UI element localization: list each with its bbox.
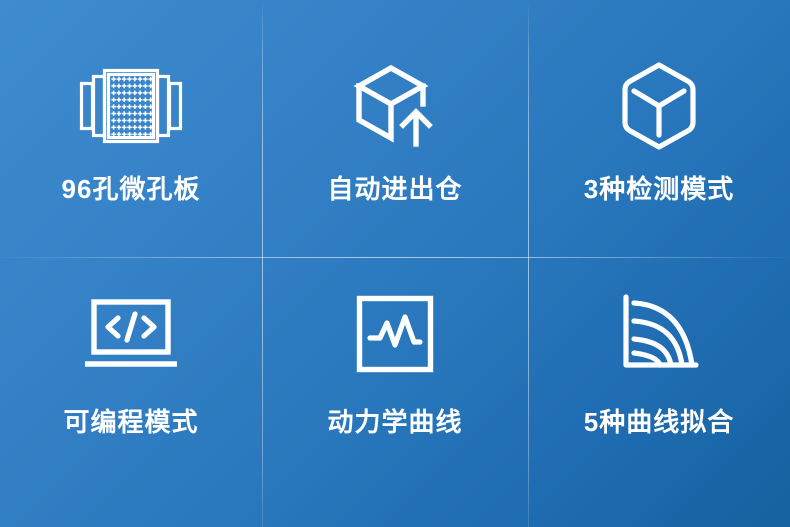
feature-cell-five-curve-fitting[interactable]: 5种曲线拟合 (528, 257, 790, 527)
laptop-code-icon (76, 285, 186, 383)
feature-cell-programmable-mode[interactable]: 可编程模式 (0, 257, 262, 527)
feature-cell-auto-tray-in-out[interactable]: 自动进出仓 (262, 0, 528, 257)
feature-label: 动力学曲线 (327, 407, 462, 438)
box-with-up-arrow-icon (340, 58, 450, 154)
feature-cell-microplate-96-well[interactable]: 96孔微孔板 (0, 0, 262, 257)
feature-label: 自动进出仓 (327, 174, 462, 205)
hexagon-cube-y-icon (604, 58, 714, 154)
feature-highlights-panel: 96孔微孔板 自动进出仓 (0, 0, 790, 527)
microplate-96-well-icon (76, 58, 186, 154)
feature-label: 96孔微孔板 (62, 174, 201, 205)
feature-label: 5种曲线拟合 (584, 407, 734, 438)
feature-label: 3种检测模式 (584, 174, 734, 205)
framed-line-chart-icon (340, 285, 450, 383)
feature-cell-three-detection-modes[interactable]: 3种检测模式 (528, 0, 790, 257)
feature-label: 可编程模式 (63, 407, 198, 438)
feature-grid: 96孔微孔板 自动进出仓 (0, 0, 790, 527)
feature-cell-kinetic-curve[interactable]: 动力学曲线 (262, 257, 528, 527)
decay-curves-axis-icon (604, 285, 714, 383)
